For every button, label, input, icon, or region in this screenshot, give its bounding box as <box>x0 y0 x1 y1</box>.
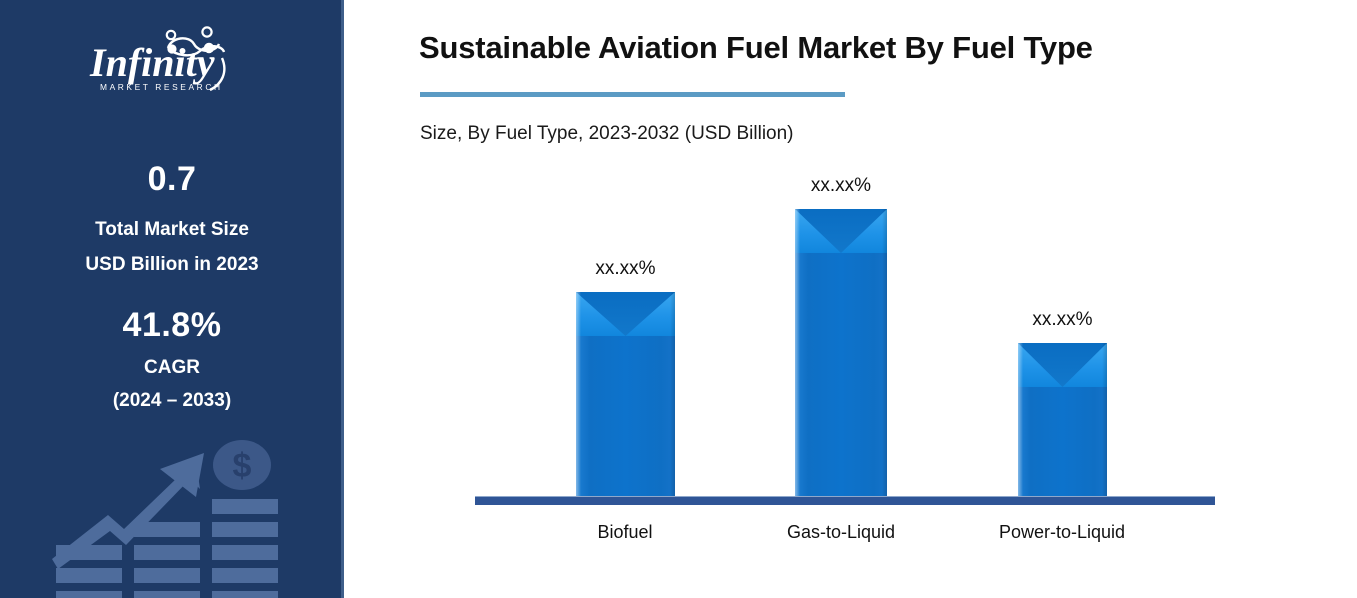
chart-subtitle: Size, By Fuel Type, 2023-2032 (USD Billi… <box>420 123 794 145</box>
bar-gas-to-liquid[interactable] <box>795 209 887 498</box>
chart-panel: Sustainable Aviation Fuel Market By Fuel… <box>344 0 1357 598</box>
logo-tagline: MARKET RESEARCH <box>100 82 223 92</box>
bar-chart: xx.xx% xx.xx% xx <box>344 160 1357 560</box>
brand-logo: Infinity MARKET RESEARCH <box>0 18 344 100</box>
bar-highlight <box>1018 343 1023 498</box>
cagr-label: CAGR <box>0 357 344 379</box>
bar-highlight <box>795 209 800 498</box>
cagr-period: (2024 – 2033) <box>0 390 344 412</box>
cagr-value: 41.8% <box>0 306 344 345</box>
bar-shadow <box>670 292 675 498</box>
bar-power-to-liquid[interactable] <box>1018 343 1107 498</box>
total-market-size-label-line2: USD Billion in 2023 <box>0 254 344 276</box>
growth-chart-with-dollar-coin-icon: $ <box>0 423 344 598</box>
x-axis-label-biofuel: Biofuel <box>597 522 652 543</box>
sidebar-panel: Infinity MARKET RESEARCH 0.7 Total Marke… <box>0 0 344 598</box>
infographic-page: Infinity MARKET RESEARCH 0.7 Total Marke… <box>0 0 1357 598</box>
bar-biofuel[interactable] <box>576 292 675 498</box>
total-market-size-label-line1: Total Market Size <box>0 219 344 241</box>
bar-shadow <box>1102 343 1107 498</box>
bar-value-label: xx.xx% <box>1032 309 1092 331</box>
logo-wordmark: Infinity <box>89 40 215 85</box>
title-underline-rule <box>420 92 845 97</box>
page-title: Sustainable Aviation Fuel Market By Fuel… <box>419 30 1093 66</box>
bar-group-gas-to-liquid[interactable]: xx.xx% <box>795 158 887 498</box>
bar-shadow <box>882 209 887 498</box>
x-axis-label-gas-to-liquid: Gas-to-Liquid <box>787 522 895 543</box>
infinity-logo-icon: Infinity MARKET RESEARCH <box>72 18 272 98</box>
bar-value-label: xx.xx% <box>811 175 871 197</box>
bar-value-label: xx.xx% <box>595 258 655 280</box>
total-market-size-value: 0.7 <box>0 160 344 199</box>
x-axis-line <box>475 496 1215 505</box>
svg-text:$: $ <box>233 447 252 485</box>
bar-group-biofuel[interactable]: xx.xx% <box>576 158 675 498</box>
x-axis-label-power-to-liquid: Power-to-Liquid <box>999 522 1125 543</box>
bar-highlight <box>576 292 581 498</box>
bar-group-power-to-liquid[interactable]: xx.xx% <box>1018 158 1107 498</box>
